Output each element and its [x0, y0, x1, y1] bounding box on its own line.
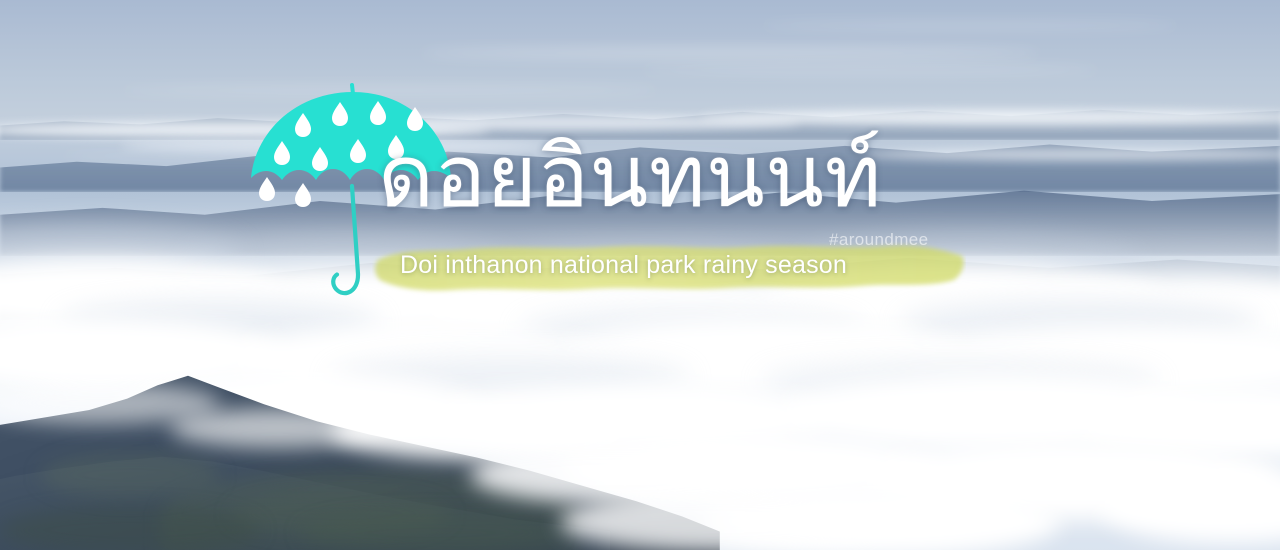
page-title: ดอยอินทนนท์ — [378, 134, 882, 220]
cloud-tongue — [560, 492, 880, 550]
cirrus-streak — [420, 48, 1040, 58]
forest-texture — [300, 512, 560, 550]
page-subtitle: Doi inthanon national park rainy season — [400, 251, 847, 280]
cloud-tongue — [170, 408, 390, 448]
forest-texture — [0, 506, 260, 550]
hero-banner: ดอยอินทนนท์ Doi inthanon national park r… — [0, 0, 1280, 550]
umbrella-handle-group — [333, 186, 358, 293]
cirrus-streak — [640, 66, 1100, 74]
forest-texture — [40, 452, 220, 498]
cirrus-streak — [760, 22, 1180, 29]
watermark-text: #aroundmee — [829, 230, 928, 250]
